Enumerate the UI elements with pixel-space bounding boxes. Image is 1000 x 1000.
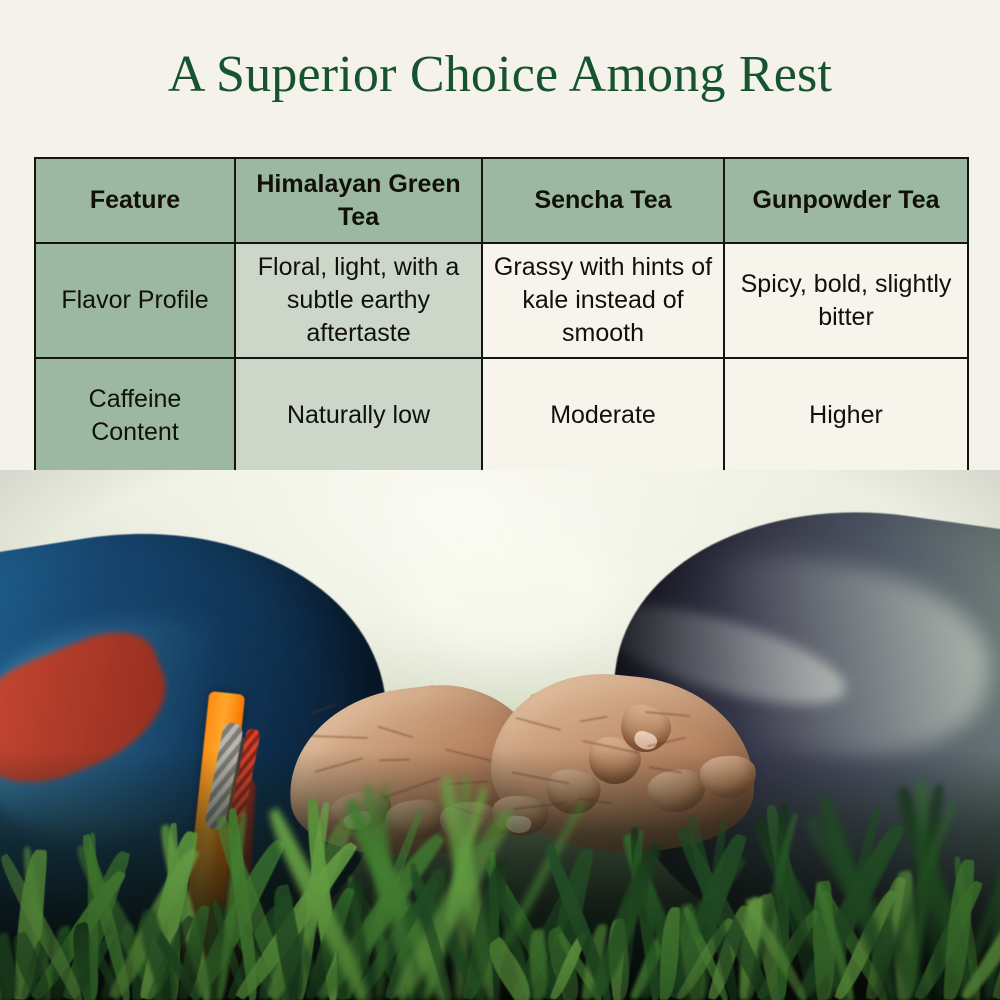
cell-gunpowder-caffeine-content: Higher <box>724 358 968 473</box>
tea-comparison-table: Feature Himalayan Green Tea Sencha Tea G… <box>34 157 969 474</box>
tea-harvest-photo <box>0 470 1000 1000</box>
table-row: Flavor Profile Floral, light, with a sub… <box>35 243 968 358</box>
table-header-row: Feature Himalayan Green Tea Sencha Tea G… <box>35 158 968 243</box>
column-header-sencha: Sencha Tea <box>482 158 724 243</box>
poster-canvas: A Superior Choice Among Rest Feature Him… <box>0 0 1000 1000</box>
cell-sencha-flavor-profile: Grassy with hints of kale instead of smo… <box>482 243 724 358</box>
cell-gunpowder-flavor-profile: Spicy, bold, slightly bitter <box>724 243 968 358</box>
table-row: Caffeine Content Naturally low Moderate … <box>35 358 968 473</box>
cell-feature-caffeine-content: Caffeine Content <box>35 358 235 473</box>
cell-himalayan-flavor-profile: Floral, light, with a subtle earthy afte… <box>235 243 482 358</box>
comparison-table-wrapper: Feature Himalayan Green Tea Sencha Tea G… <box>34 157 967 474</box>
page-title: A Superior Choice Among Rest <box>0 44 1000 106</box>
column-header-himalayan: Himalayan Green Tea <box>235 158 482 243</box>
table-body: Flavor Profile Floral, light, with a sub… <box>35 243 968 473</box>
cell-himalayan-caffeine-content: Naturally low <box>235 358 482 473</box>
cell-sencha-caffeine-content: Moderate <box>482 358 724 473</box>
table-header: Feature Himalayan Green Tea Sencha Tea G… <box>35 158 968 243</box>
bokeh-highlight <box>400 530 620 650</box>
column-header-gunpowder: Gunpowder Tea <box>724 158 968 243</box>
cell-feature-flavor-profile: Flavor Profile <box>35 243 235 358</box>
column-header-feature: Feature <box>35 158 235 243</box>
